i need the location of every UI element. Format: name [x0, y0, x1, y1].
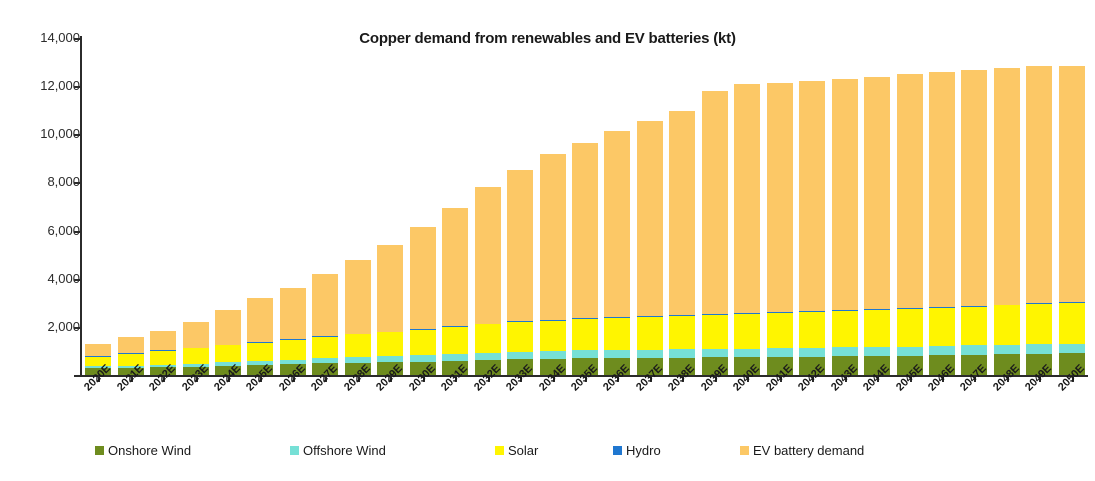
bar[interactable] — [475, 187, 501, 375]
chart-legend: Onshore WindOffshore WindSolarHydroEV ba… — [0, 440, 1095, 466]
bar-segment — [507, 322, 533, 352]
bar-segment — [280, 340, 306, 360]
bar-segment — [669, 349, 695, 357]
bar-segment — [475, 324, 501, 352]
bar-segment — [929, 308, 955, 346]
bar-segment — [832, 347, 858, 356]
y-axis-tick-label: 8,000 — [14, 174, 80, 189]
y-axis-tick-label: 14,000 — [14, 30, 80, 45]
bar-segment — [637, 350, 663, 358]
legend-item[interactable]: EV battery demand — [740, 443, 864, 458]
bar[interactable] — [1026, 66, 1052, 375]
bar-segment — [1059, 344, 1085, 354]
bar-segment — [864, 310, 890, 347]
bar-segment — [897, 347, 923, 356]
bar-segment — [734, 349, 760, 358]
bar-segment — [1026, 344, 1052, 354]
bar[interactable] — [832, 79, 858, 375]
bar-segment — [442, 354, 468, 361]
bar-segment — [1026, 304, 1052, 344]
legend-item[interactable]: Hydro — [613, 443, 661, 458]
bar-segment — [410, 330, 436, 356]
bar-segment — [929, 346, 955, 355]
bar-segment — [312, 274, 338, 336]
bar[interactable] — [410, 227, 436, 375]
legend-swatch — [613, 446, 622, 455]
bar-segment — [540, 351, 566, 359]
bar-segment — [312, 337, 338, 359]
y-axis-tick-mark — [74, 375, 81, 377]
bar[interactable] — [767, 83, 793, 375]
bar-segment — [961, 70, 987, 306]
bar-segment — [864, 77, 890, 310]
legend-swatch — [495, 446, 504, 455]
bar-segment — [442, 208, 468, 326]
legend-label: Solar — [508, 443, 538, 458]
y-axis-tick-label: 12,000 — [14, 78, 80, 93]
bar-segment — [897, 309, 923, 346]
bar-segment — [215, 310, 241, 345]
y-axis-tick-label: - — [14, 367, 80, 382]
bar-segment — [475, 353, 501, 360]
legend-swatch — [290, 446, 299, 455]
bar-segment — [410, 227, 436, 329]
bar[interactable] — [799, 81, 825, 375]
bar-segment — [767, 83, 793, 312]
bar[interactable] — [377, 245, 403, 375]
bar-segment — [1026, 66, 1052, 304]
bar[interactable] — [507, 170, 533, 375]
bar[interactable] — [702, 91, 728, 375]
y-axis-tick-mark — [74, 231, 81, 233]
bar-segment — [994, 305, 1020, 344]
bar-segment — [507, 352, 533, 359]
bar-segment — [669, 111, 695, 315]
bar[interactable] — [572, 143, 598, 375]
bar-segment — [475, 187, 501, 323]
bar-segment — [345, 334, 371, 357]
bar-segment — [1059, 303, 1085, 344]
bar[interactable] — [604, 131, 630, 375]
bar[interactable] — [637, 121, 663, 375]
y-axis-tick-mark — [74, 86, 81, 88]
bar-segment — [734, 84, 760, 313]
bar[interactable] — [864, 77, 890, 375]
bar-segment — [1059, 66, 1085, 302]
bar-segment — [669, 316, 695, 349]
bar[interactable] — [929, 72, 955, 375]
plot-area — [82, 38, 1088, 375]
bar-segment — [150, 351, 176, 364]
bar-segment — [540, 321, 566, 352]
bar-segment — [572, 143, 598, 319]
y-axis-tick-mark — [74, 134, 81, 136]
bar-segment — [961, 307, 987, 346]
bar[interactable] — [280, 288, 306, 375]
bar-segment — [637, 121, 663, 317]
bar-segment — [734, 314, 760, 349]
legend-item[interactable]: Solar — [495, 443, 538, 458]
legend-item[interactable]: Offshore Wind — [290, 443, 386, 458]
chart-container: Copper demand from renewables and EV bat… — [0, 0, 1095, 481]
bar-segment — [832, 311, 858, 347]
bar-segment — [247, 298, 273, 342]
bar-segment — [702, 315, 728, 349]
legend-label: Offshore Wind — [303, 443, 386, 458]
bar-segment — [832, 79, 858, 310]
bar-segment — [604, 318, 630, 350]
legend-label: Hydro — [626, 443, 661, 458]
y-axis-tick-label: 10,000 — [14, 126, 80, 141]
bar-segment — [604, 131, 630, 318]
bar-segment — [150, 331, 176, 351]
bar[interactable] — [994, 68, 1020, 375]
bar[interactable] — [312, 274, 338, 375]
bar-segment — [897, 74, 923, 308]
bar[interactable] — [669, 111, 695, 375]
bar-segment — [799, 81, 825, 311]
bar-segment — [799, 312, 825, 348]
bar-segment — [183, 348, 209, 363]
bar-segment — [280, 288, 306, 338]
y-axis-tick-mark — [74, 279, 81, 281]
bar-segment — [994, 68, 1020, 305]
bar-segment — [604, 350, 630, 358]
bar[interactable] — [1059, 66, 1085, 375]
y-axis-tick-label: 6,000 — [14, 223, 80, 238]
y-axis-tick-label: 2,000 — [14, 319, 80, 334]
bar[interactable] — [961, 70, 987, 375]
bar[interactable] — [442, 208, 468, 375]
legend-label: EV battery demand — [753, 443, 864, 458]
bar-segment — [118, 337, 144, 353]
bar-segment — [377, 332, 403, 356]
bar[interactable] — [247, 298, 273, 375]
legend-swatch — [95, 446, 104, 455]
bar-segment — [247, 343, 273, 361]
bar-segment — [767, 348, 793, 357]
bar[interactable] — [734, 84, 760, 375]
bar-segment — [572, 350, 598, 358]
bar-segment — [994, 345, 1020, 354]
y-axis-tick-mark — [74, 38, 81, 40]
bar[interactable] — [897, 74, 923, 375]
bar-segment — [767, 313, 793, 348]
bar-segment — [961, 345, 987, 354]
bar-segment — [702, 349, 728, 357]
bar-segment — [799, 348, 825, 357]
bar-segment — [345, 260, 371, 334]
bar-segment — [85, 344, 111, 356]
bar-segment — [572, 319, 598, 350]
y-axis-tick-mark — [74, 182, 81, 184]
bar-segment — [637, 317, 663, 350]
bar-segment — [183, 322, 209, 348]
bar-segment — [442, 327, 468, 354]
y-axis-tick-label: 4,000 — [14, 271, 80, 286]
bar-segment — [377, 245, 403, 332]
bar-segment — [215, 345, 241, 362]
bar[interactable] — [345, 260, 371, 375]
legend-swatch — [740, 446, 749, 455]
bar-segment — [540, 154, 566, 320]
bar[interactable] — [540, 154, 566, 375]
bar-segment — [702, 91, 728, 314]
bar-segment — [507, 170, 533, 322]
y-axis-tick-mark — [74, 327, 81, 329]
bar-segment — [929, 72, 955, 307]
legend-label: Onshore Wind — [108, 443, 191, 458]
legend-item[interactable]: Onshore Wind — [95, 443, 191, 458]
bar-segment — [864, 347, 890, 356]
